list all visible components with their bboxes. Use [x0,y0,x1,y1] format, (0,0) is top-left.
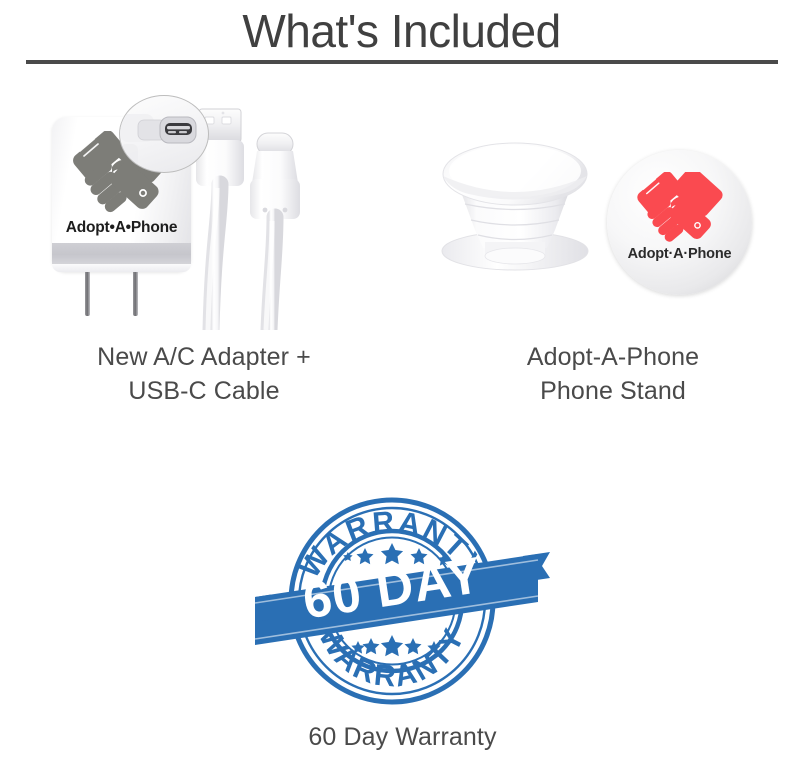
caption-warranty-line1: 60 Day Warranty [210,720,595,754]
included-item-warranty: WARRANTY WARRANTY [255,485,550,715]
adapter-gray-band [52,243,191,264]
title-divider [26,60,778,64]
usb-c-connector-icon [250,133,300,219]
caption-charger-line1: New A/C Adapter + [18,340,390,374]
handshake-logo-icon [627,172,731,246]
magnifier-circle-icon [119,95,209,173]
included-item-phone-stand: Adopt·A·Phone [415,130,785,320]
adapter-prong-right [133,272,138,316]
caption-warranty: 60 Day Warranty [210,720,595,754]
adopt-a-phone-logo-disc: Adopt·A·Phone [607,150,752,295]
popsocket-stand-icon [425,130,605,290]
caption-phone-stand: Adopt-A-Phone Phone Stand [432,340,794,408]
caption-stand-line1: Adopt-A-Phone [432,340,794,374]
included-item-charger: Adopt•A•Phone [20,85,390,330]
caption-charger: New A/C Adapter + USB-C Cable [18,340,390,408]
adapter-prong-left [85,272,90,316]
caption-stand-line2: Phone Stand [432,374,794,408]
disc-brand-text: Adopt·A·Phone [607,246,752,262]
warranty-stamp-icon: WARRANTY WARRANTY [255,485,550,715]
usb-c-cable-icon [195,93,390,330]
adapter-brand-text: Adopt•A•Phone [52,219,191,237]
page-title: What's Included [0,4,803,58]
adapter-bottom-edge [52,264,191,272]
caption-charger-line2: USB-C Cable [18,374,390,408]
